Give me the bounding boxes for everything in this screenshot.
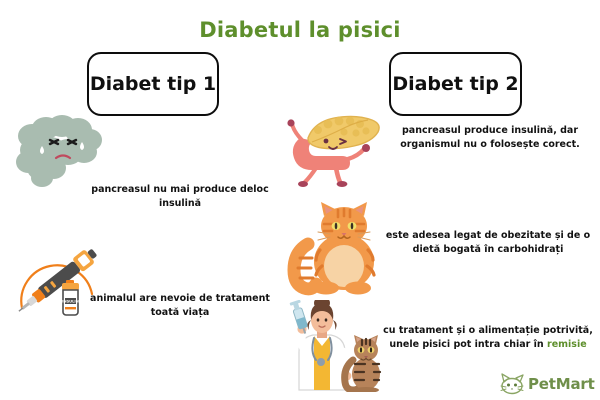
happy-pancreas-icon <box>286 104 386 190</box>
sad-pancreas-icon <box>12 112 108 190</box>
diabetes-type-2-heading-box: Diabet tip 2 <box>389 52 522 116</box>
caption-type2-obesity: este adesea legat de obezitate și de o d… <box>381 229 595 257</box>
overweight-cat-icon <box>286 200 386 296</box>
veterinarian-with-cat-icon <box>281 300 387 392</box>
diabetes-type-1-label: Diabet tip 1 <box>90 73 216 95</box>
page-title: Diabetul la pisici <box>0 18 600 42</box>
cat-face-icon <box>500 373 526 395</box>
infographic-canvas: Diabetul la pisici Diabet tip 1 Diabet t… <box>0 0 600 400</box>
caption-type2-remission: cu tratament și o alimentație potrivită,… <box>381 324 595 352</box>
diabetes-type-1-heading-box: Diabet tip 1 <box>87 52 219 116</box>
diabetes-type-2-label: Diabet tip 2 <box>392 73 518 95</box>
petmart-logo[interactable]: PetMart <box>500 372 596 396</box>
caption-remission-highlight: remisie <box>547 339 587 350</box>
caption-type1-pancreas: pancreasul nu mai produce deloc insulină <box>85 183 275 211</box>
insulin-vial-label: INSULIN <box>62 300 79 304</box>
caption-type2-insulin-resistance: pancreasul produce insulină, dar organis… <box>390 124 590 152</box>
petmart-logo-text: PetMart <box>528 375 595 393</box>
caption-type1-treatment: animalul are nevoie de tratament toată v… <box>85 292 275 320</box>
